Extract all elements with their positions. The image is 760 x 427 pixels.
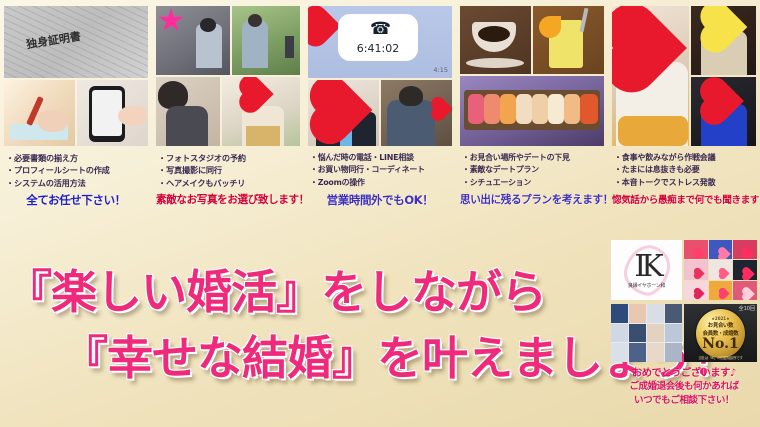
medal-disc: ★2021★ お見合い数 会員数・成婚数 No.1 — [696, 309, 745, 358]
service-column-date-planning: ・お見合い場所やデートの下見 ・素敵なデートプラン ・シチュエーション 思い出に… — [456, 0, 608, 250]
bullet-item: ・プロフィールシートの作成 — [6, 164, 148, 176]
member-face — [611, 304, 628, 323]
ranking-medal-badge: 全10回 ★2021★ お見合い数 会員数・成婚数 No.1 当社は「IK」の加… — [684, 304, 757, 362]
service-columns: 独身証明書 ・必要書類の揃え方 ・プロフィールシートの作成 ・システムの活用方法 — [0, 0, 760, 250]
bullet-item: ・必要書類の揃え方 — [6, 152, 148, 164]
member-face — [665, 304, 682, 323]
member-face — [629, 304, 646, 323]
bullet-item: ・フォトスタジオの予約 — [158, 152, 300, 164]
column-tagline: 思い出に残るプランを考えます！ — [460, 192, 604, 207]
column-tagline: 営業時間外でもOK！ — [308, 192, 452, 208]
photo-grid — [156, 6, 300, 146]
photo-sushi-platter — [460, 76, 604, 146]
member-face — [665, 343, 682, 362]
call-timestamp: 4:15 — [433, 66, 448, 74]
bullet-item: ・お買い物同行・コーディネート — [310, 164, 452, 176]
bullet-list: ・お見合い場所やデートの下見 ・素敵なデートプラン ・シチュエーション — [460, 152, 604, 189]
photo-grid — [460, 6, 604, 146]
bullet-item: ・悩んだ時の電話・LINE相談 — [310, 152, 452, 164]
photo-lemon-drink — [533, 6, 604, 74]
photo-person-yellow-heart — [691, 6, 756, 75]
member-faces-grid — [611, 304, 682, 362]
phone-call-icon: ☎ — [370, 21, 391, 38]
service-column-documents: 独身証明書 ・必要書類の揃え方 ・プロフィールシートの作成 ・システムの活用方法 — [0, 0, 152, 250]
bullet-item: ・お見合い場所やデートの下見 — [462, 152, 604, 164]
congratulations-messages: おめでとうございます♪ ご成婚退会後も何かあれば いつでもご相談下さい！ — [608, 362, 760, 408]
member-face — [629, 343, 646, 362]
photo-portrait-heart — [222, 77, 300, 146]
bullet-item: ・素敵なデートプラン — [462, 164, 604, 176]
photo-man-suit-heart — [308, 80, 379, 146]
photo-certificate: 独身証明書 — [4, 6, 148, 78]
collage-cell — [709, 240, 733, 259]
medal-rank: No.1 — [702, 337, 739, 351]
column-tagline: 素敵なお写真をお選び致します！ — [156, 192, 300, 207]
bullet-list: ・フォトスタジオの予約 ・写真撮影に同行 ・ヘアメイクもバッチリ — [156, 152, 300, 189]
bullet-item: ・たまには息抜きも必要 — [614, 164, 756, 176]
member-face — [647, 324, 664, 343]
member-face — [647, 343, 664, 362]
bullet-item: ・Zoomの操作 — [310, 177, 452, 189]
photo-grid: 独身証明書 — [4, 6, 148, 146]
medal-corner-label: 全10回 — [739, 305, 755, 312]
member-face — [665, 324, 682, 343]
bullet-item: ・ヘアメイクもバッチリ — [158, 177, 300, 189]
medal-line-1: お見合い数 — [708, 321, 733, 329]
photo-coffee-cup — [460, 6, 531, 74]
heart-sticker-icon — [308, 9, 341, 43]
logo-mark: IK — [634, 252, 658, 282]
member-face — [647, 304, 664, 323]
photo-grid — [612, 6, 756, 146]
member-face — [611, 343, 628, 362]
main-headline: 『楽しい婚活』をしながら 『幸せな結婚』を叶えましょう！ — [0, 252, 620, 427]
member-face — [611, 324, 628, 343]
heart-sticker-icon — [433, 99, 452, 119]
heart-sticker-icon — [242, 78, 273, 109]
congrats-message-line: いつでもご相談下さい！ — [610, 394, 758, 408]
bullet-item: ・写真撮影に同行 — [158, 164, 300, 176]
photo-person-blue-heart — [691, 77, 756, 146]
photo-smartphone — [77, 80, 148, 146]
photo-line-call-screen: ☎ 6:41:02 4:15 — [308, 6, 452, 78]
service-column-photo-studio: ・フォトスタジオの予約 ・写真撮影に同行 ・ヘアメイクもバッチリ 素敵なお写真を… — [152, 0, 304, 250]
bullet-item: ・シチュエーション — [462, 177, 604, 189]
bullet-list: ・悩んだ時の電話・LINE相談 ・お買い物同行・コーディネート ・Zoomの操作 — [308, 152, 452, 189]
logo-subtitle: 良縁イヤホーン和 — [628, 282, 665, 289]
bullet-item: ・食事や飲みながら作戦会議 — [614, 152, 756, 164]
collage-cell — [684, 240, 708, 259]
congrats-message-line: おめでとうございます♪ — [610, 366, 758, 380]
bullet-item: ・本音トークでストレス発散 — [614, 177, 756, 189]
photo-outdoor-pose — [232, 6, 300, 75]
column-tagline: 惚気話から愚痴まで何でも聞きます！ — [612, 192, 756, 206]
bullet-list: ・食事や飲みながら作戦会議 ・たまには息抜きも必要 ・本音トークでストレス発散 — [612, 152, 756, 189]
photo-hair-styling — [156, 77, 220, 146]
photo-woman-guitar — [612, 6, 689, 146]
member-face — [629, 324, 646, 343]
company-logo: IK 良縁イヤホーン和 — [611, 240, 682, 300]
collage-cell — [684, 260, 708, 279]
photo-grid: ☎ 6:41:02 4:15 — [308, 6, 452, 146]
collage-cell — [709, 281, 733, 300]
photo-makeup — [156, 6, 230, 75]
congratulations-panel: IK 良縁イヤホーン和 — [608, 238, 760, 427]
collage-cell — [733, 281, 757, 300]
panel-top-row: IK 良縁イヤホーン和 — [608, 238, 760, 300]
collage-cell — [733, 240, 757, 259]
bullet-list: ・必要書類の揃え方 ・プロフィールシートの作成 ・システムの活用方法 — [4, 152, 148, 189]
collage-cell — [733, 260, 757, 279]
service-column-talk-support: ・食事や飲みながら作戦会議 ・たまには息抜きも必要 ・本音トークでストレス発散 … — [608, 0, 760, 250]
photo-man-back-view — [381, 80, 452, 146]
panel-second-row: 全10回 ★2021★ お見合い数 会員数・成婚数 No.1 当社は「IK」の加… — [608, 302, 760, 362]
photo-writing — [4, 80, 75, 146]
collage-cell — [709, 260, 733, 279]
call-timer: 6:41:02 — [338, 42, 418, 55]
medal-footer: 当社は「IK」の加盟相談所です — [684, 355, 757, 360]
congrats-message-line: ご成婚退会後も何かあれば — [610, 380, 758, 394]
bullet-item: ・システムの活用方法 — [6, 177, 148, 189]
wedding-photo-collage — [684, 240, 757, 300]
column-tagline: 全てお任せ下さい！ — [4, 192, 148, 208]
service-column-consultation: ☎ 6:41:02 4:15 — [304, 0, 456, 250]
headline-line-1: 『楽しい婚活』をしながら — [6, 256, 546, 322]
collage-cell — [684, 281, 708, 300]
